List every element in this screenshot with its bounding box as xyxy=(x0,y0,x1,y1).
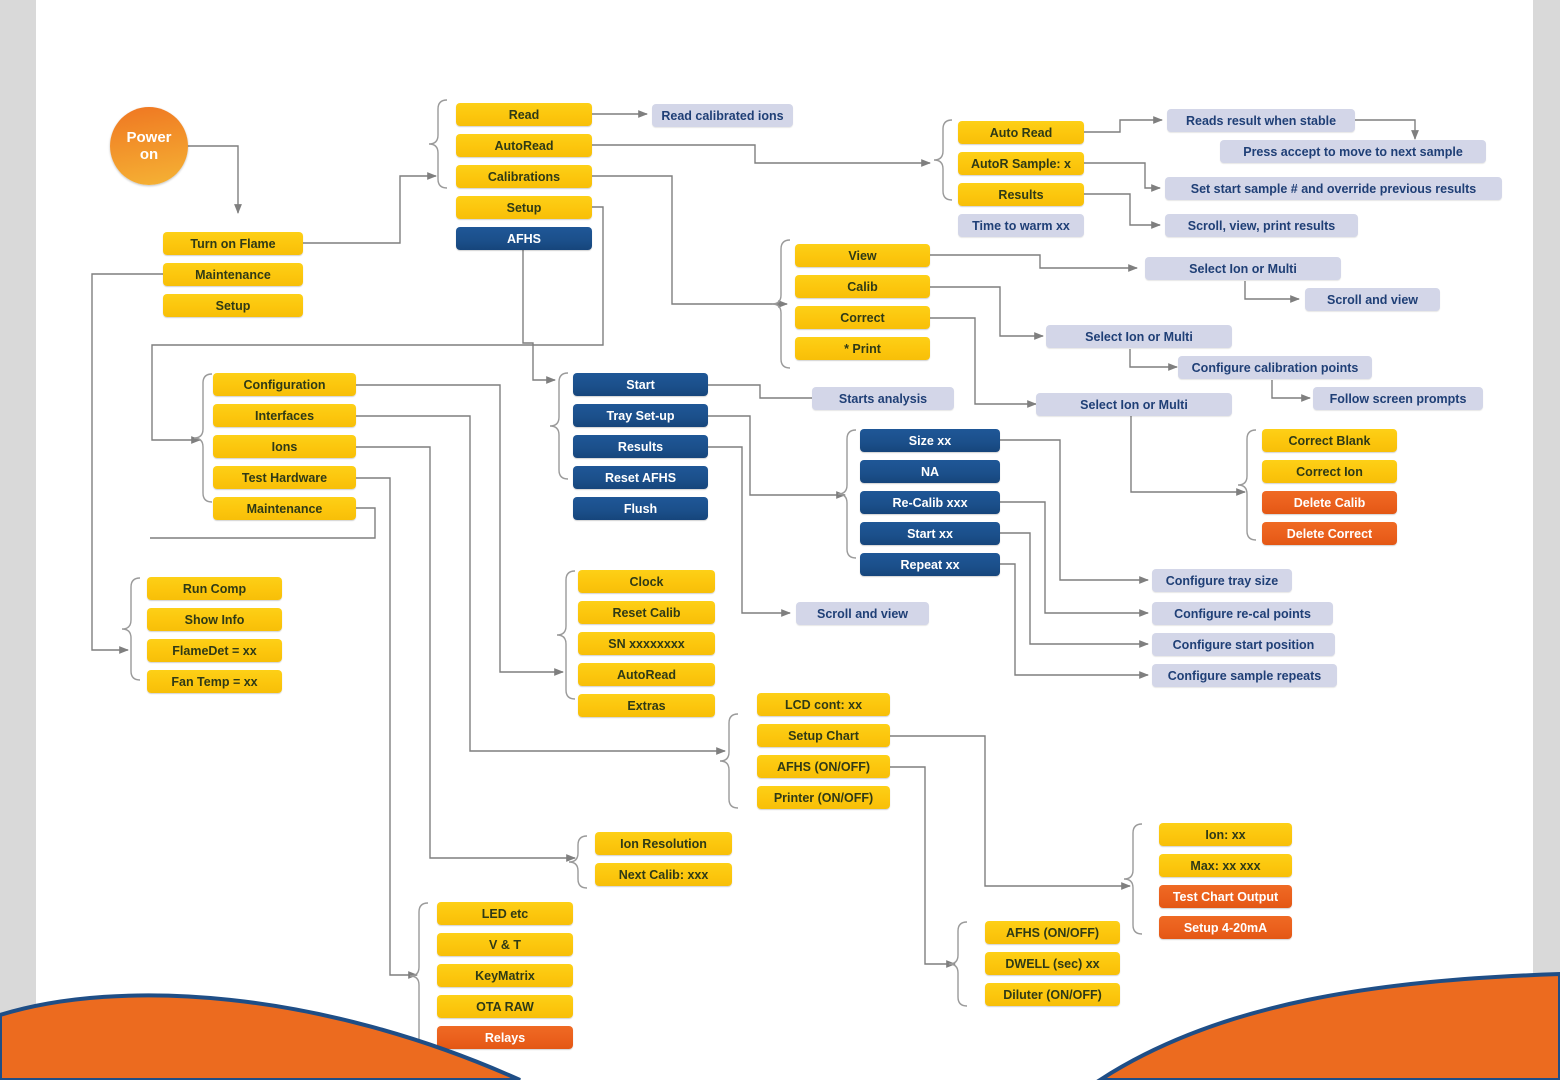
menu-item-maintenance-setup[interactable]: Maintenance xyxy=(213,497,356,520)
menu-item-correct-ion[interactable]: Correct Ion xyxy=(1262,460,1397,483)
menu-item-fan-temp[interactable]: Fan Temp = xx xyxy=(147,670,282,693)
label: Reset AFHS xyxy=(605,471,676,485)
menu-item-start-xx[interactable]: Start xx xyxy=(860,522,1000,545)
label: Reads result when stable xyxy=(1186,114,1336,128)
label: Setup xyxy=(507,201,542,215)
menu-item-view[interactable]: View xyxy=(795,244,930,267)
label: Ion Resolution xyxy=(620,837,707,851)
label: Select Ion or Multi xyxy=(1080,398,1188,412)
menu-item-max-xx[interactable]: Max: xx xxx xyxy=(1159,854,1292,877)
label: Delete Calib xyxy=(1294,496,1366,510)
label: SN xxxxxxxx xyxy=(608,637,684,651)
menu-item-autoread[interactable]: AutoRead xyxy=(456,134,592,157)
label: Scroll and view xyxy=(1327,293,1418,307)
label: AFHS (ON/OFF) xyxy=(777,760,870,774)
label: LED etc xyxy=(482,907,529,921)
menu-item-ion-xx[interactable]: Ion: xx xyxy=(1159,823,1292,846)
menu-item-lcd-cont[interactable]: LCD cont: xx xyxy=(757,693,890,716)
label: Run Comp xyxy=(183,582,246,596)
label: * Print xyxy=(844,342,881,356)
label: AutoRead xyxy=(617,668,676,682)
label: Turn on Flame xyxy=(190,237,275,251)
menu-item-led-etc[interactable]: LED etc xyxy=(437,902,573,925)
note-configure-recal-points: Configure re-cal points xyxy=(1152,602,1333,625)
menu-item-correct[interactable]: Correct xyxy=(795,306,930,329)
menu-item-repeat-xx[interactable]: Repeat xx xyxy=(860,553,1000,576)
label: AFHS (ON/OFF) xyxy=(1006,926,1099,940)
note-starts-analysis: Starts analysis xyxy=(812,387,954,410)
label: Configuration xyxy=(244,378,326,392)
label: Calib xyxy=(847,280,878,294)
label: Next Calib: xxx xyxy=(619,868,709,882)
label: V & T xyxy=(489,938,521,952)
label: Configure tray size xyxy=(1166,574,1279,588)
label: Flush xyxy=(624,502,657,516)
label: Results xyxy=(998,188,1043,202)
menu-item-afhs-onoff-iface[interactable]: AFHS (ON/OFF) xyxy=(985,921,1120,944)
diagram-slide: Power on Turn on Flame Maintenance Setup… xyxy=(0,0,1560,1080)
menu-item-print[interactable]: * Print xyxy=(795,337,930,360)
label: Configure sample repeats xyxy=(1168,669,1322,683)
menu-item-ion-resolution[interactable]: Ion Resolution xyxy=(595,832,732,855)
menu-item-delete-correct[interactable]: Delete Correct xyxy=(1262,522,1397,545)
menu-item-start[interactable]: Start xyxy=(573,373,708,396)
label: AFHS xyxy=(507,232,541,246)
menu-item-afhs[interactable]: AFHS xyxy=(456,227,592,250)
label: Maintenance xyxy=(247,502,323,516)
menu-item-reset-calib[interactable]: Reset Calib xyxy=(578,601,715,624)
label: Extras xyxy=(627,699,665,713)
menu-item-setup-flame[interactable]: Setup xyxy=(456,196,592,219)
label: LCD cont: xx xyxy=(785,698,862,712)
left-page-band xyxy=(0,0,36,1080)
menu-item-show-info[interactable]: Show Info xyxy=(147,608,282,631)
menu-item-printer-onoff[interactable]: Printer (ON/OFF) xyxy=(757,786,890,809)
label: Configure calibration points xyxy=(1192,361,1359,375)
menu-item-configuration[interactable]: Configuration xyxy=(213,373,356,396)
menu-item-correct-blank[interactable]: Correct Blank xyxy=(1262,429,1397,452)
label: Follow screen prompts xyxy=(1330,392,1467,406)
menu-item-tray-setup[interactable]: Tray Set-up xyxy=(573,404,708,427)
label: Press accept to move to next sample xyxy=(1243,145,1463,159)
menu-item-turn-on-flame[interactable]: Turn on Flame xyxy=(163,232,303,255)
menu-item-results-afhs[interactable]: Results xyxy=(573,435,708,458)
label: Tray Set-up xyxy=(606,409,674,423)
label: Correct Blank xyxy=(1289,434,1371,448)
note-select-ion-or-multi-1: Select Ion or Multi xyxy=(1145,257,1341,280)
label: Select Ion or Multi xyxy=(1085,330,1193,344)
label: Ions xyxy=(272,440,298,454)
note-select-ion-or-multi-3: Select Ion or Multi xyxy=(1036,393,1232,416)
label: Correct Ion xyxy=(1296,465,1363,479)
label: Re-Calib xxx xyxy=(892,496,967,510)
label: AutoRead xyxy=(494,139,553,153)
menu-item-v-and-t[interactable]: V & T xyxy=(437,933,573,956)
note-configure-start-position: Configure start position xyxy=(1152,633,1335,656)
menu-item-na[interactable]: NA xyxy=(860,460,1000,483)
label: Fan Temp = xx xyxy=(171,675,257,689)
label: Clock xyxy=(629,575,663,589)
menu-item-test-chart-output[interactable]: Test Chart Output xyxy=(1159,885,1292,908)
menu-item-sn[interactable]: SN xxxxxxxx xyxy=(578,632,715,655)
note-configure-tray-size: Configure tray size xyxy=(1152,569,1292,592)
label: Read xyxy=(509,108,540,122)
menu-item-calibrations[interactable]: Calibrations xyxy=(456,165,592,188)
label: Starts analysis xyxy=(839,392,927,406)
label: Interfaces xyxy=(255,409,314,423)
menu-item-next-calib[interactable]: Next Calib: xxx xyxy=(595,863,732,886)
menu-item-delete-calib[interactable]: Delete Calib xyxy=(1262,491,1397,514)
menu-item-maintenance-main[interactable]: Maintenance xyxy=(163,263,303,286)
label: Size xx xyxy=(909,434,951,448)
label: NA xyxy=(921,465,939,479)
menu-item-setup-chart[interactable]: Setup Chart xyxy=(757,724,890,747)
label: Maintenance xyxy=(195,268,271,282)
menu-item-flush[interactable]: Flush xyxy=(573,497,708,520)
menu-item-re-calib[interactable]: Re-Calib xxx xyxy=(860,491,1000,514)
label: Setup xyxy=(216,299,251,313)
right-page-band xyxy=(1533,0,1560,1080)
note-press-accept: Press accept to move to next sample xyxy=(1220,140,1486,163)
label: Setup Chart xyxy=(788,729,859,743)
label: Delete Correct xyxy=(1287,527,1372,541)
note-scroll-view-print: Scroll, view, print results xyxy=(1165,214,1358,237)
menu-item-setup-main[interactable]: Setup xyxy=(163,294,303,317)
label: Max: xx xxx xyxy=(1190,859,1260,873)
menu-item-run-comp[interactable]: Run Comp xyxy=(147,577,282,600)
menu-item-read[interactable]: Read xyxy=(456,103,592,126)
label: Test Hardware xyxy=(242,471,327,485)
label: Select Ion or Multi xyxy=(1189,262,1297,276)
label: Results xyxy=(618,440,663,454)
label: Correct xyxy=(840,311,884,325)
label: Scroll and view xyxy=(817,607,908,621)
note-reads-result-when-stable: Reads result when stable xyxy=(1167,109,1355,132)
note-configure-calibration-points: Configure calibration points xyxy=(1178,356,1372,379)
label: Calibrations xyxy=(488,170,560,184)
label: Scroll, view, print results xyxy=(1188,219,1336,233)
label: Configure start position xyxy=(1173,638,1315,652)
menu-item-test-hardware[interactable]: Test Hardware xyxy=(213,466,356,489)
label: Setup 4-20mA xyxy=(1184,921,1267,935)
label: Read calibrated ions xyxy=(661,109,783,123)
note-select-ion-or-multi-2: Select Ion or Multi xyxy=(1046,325,1232,348)
menu-item-autor-sample[interactable]: AutoR Sample: x xyxy=(958,152,1084,175)
menu-item-reset-afhs[interactable]: Reset AFHS xyxy=(573,466,708,489)
power-on-line1: Power xyxy=(126,129,171,146)
menu-item-interfaces[interactable]: Interfaces xyxy=(213,404,356,427)
label: Repeat xx xyxy=(900,558,959,572)
label: Show Info xyxy=(185,613,245,627)
menu-item-autoread-config[interactable]: AutoRead xyxy=(578,663,715,686)
label: Start xx xyxy=(907,527,953,541)
note-scroll-and-view-2: Scroll and view xyxy=(796,602,929,625)
menu-item-afhs-onoff[interactable]: AFHS (ON/OFF) xyxy=(757,755,890,778)
label: Printer (ON/OFF) xyxy=(774,791,873,805)
label: Auto Read xyxy=(990,126,1053,140)
note-follow-screen-prompts: Follow screen prompts xyxy=(1313,387,1483,410)
power-on-line2: on xyxy=(140,146,158,163)
bottom-wave-decoration xyxy=(0,960,1560,1080)
menu-item-flamedet[interactable]: FlameDet = xx xyxy=(147,639,282,662)
menu-item-size[interactable]: Size xx xyxy=(860,429,1000,452)
menu-item-calib[interactable]: Calib xyxy=(795,275,930,298)
note-time-to-warm: Time to warm xx xyxy=(958,214,1084,237)
label: Ion: xx xyxy=(1205,828,1245,842)
power-on-node[interactable]: Power on xyxy=(110,107,188,185)
label: AutoR Sample: x xyxy=(971,157,1071,171)
label: Start xyxy=(626,378,654,392)
menu-item-results-autoread[interactable]: Results xyxy=(958,183,1084,206)
label: Reset Calib xyxy=(612,606,680,620)
menu-item-clock[interactable]: Clock xyxy=(578,570,715,593)
label: FlameDet = xx xyxy=(172,644,256,658)
menu-item-ions[interactable]: Ions xyxy=(213,435,356,458)
label: Set start sample # and override previous… xyxy=(1191,182,1477,196)
menu-item-auto-read[interactable]: Auto Read xyxy=(958,121,1084,144)
label: Time to warm xx xyxy=(972,219,1070,233)
menu-item-setup-4-20ma[interactable]: Setup 4-20mA xyxy=(1159,916,1292,939)
note-read-calibrated-ions: Read calibrated ions xyxy=(652,104,793,127)
note-scroll-and-view-1: Scroll and view xyxy=(1305,288,1440,311)
note-set-start-sample: Set start sample # and override previous… xyxy=(1165,177,1502,200)
note-configure-sample-repeats: Configure sample repeats xyxy=(1152,664,1337,687)
label: View xyxy=(848,249,876,263)
menu-item-extras[interactable]: Extras xyxy=(578,694,715,717)
label: Test Chart Output xyxy=(1173,890,1278,904)
label: Configure re-cal points xyxy=(1174,607,1311,621)
